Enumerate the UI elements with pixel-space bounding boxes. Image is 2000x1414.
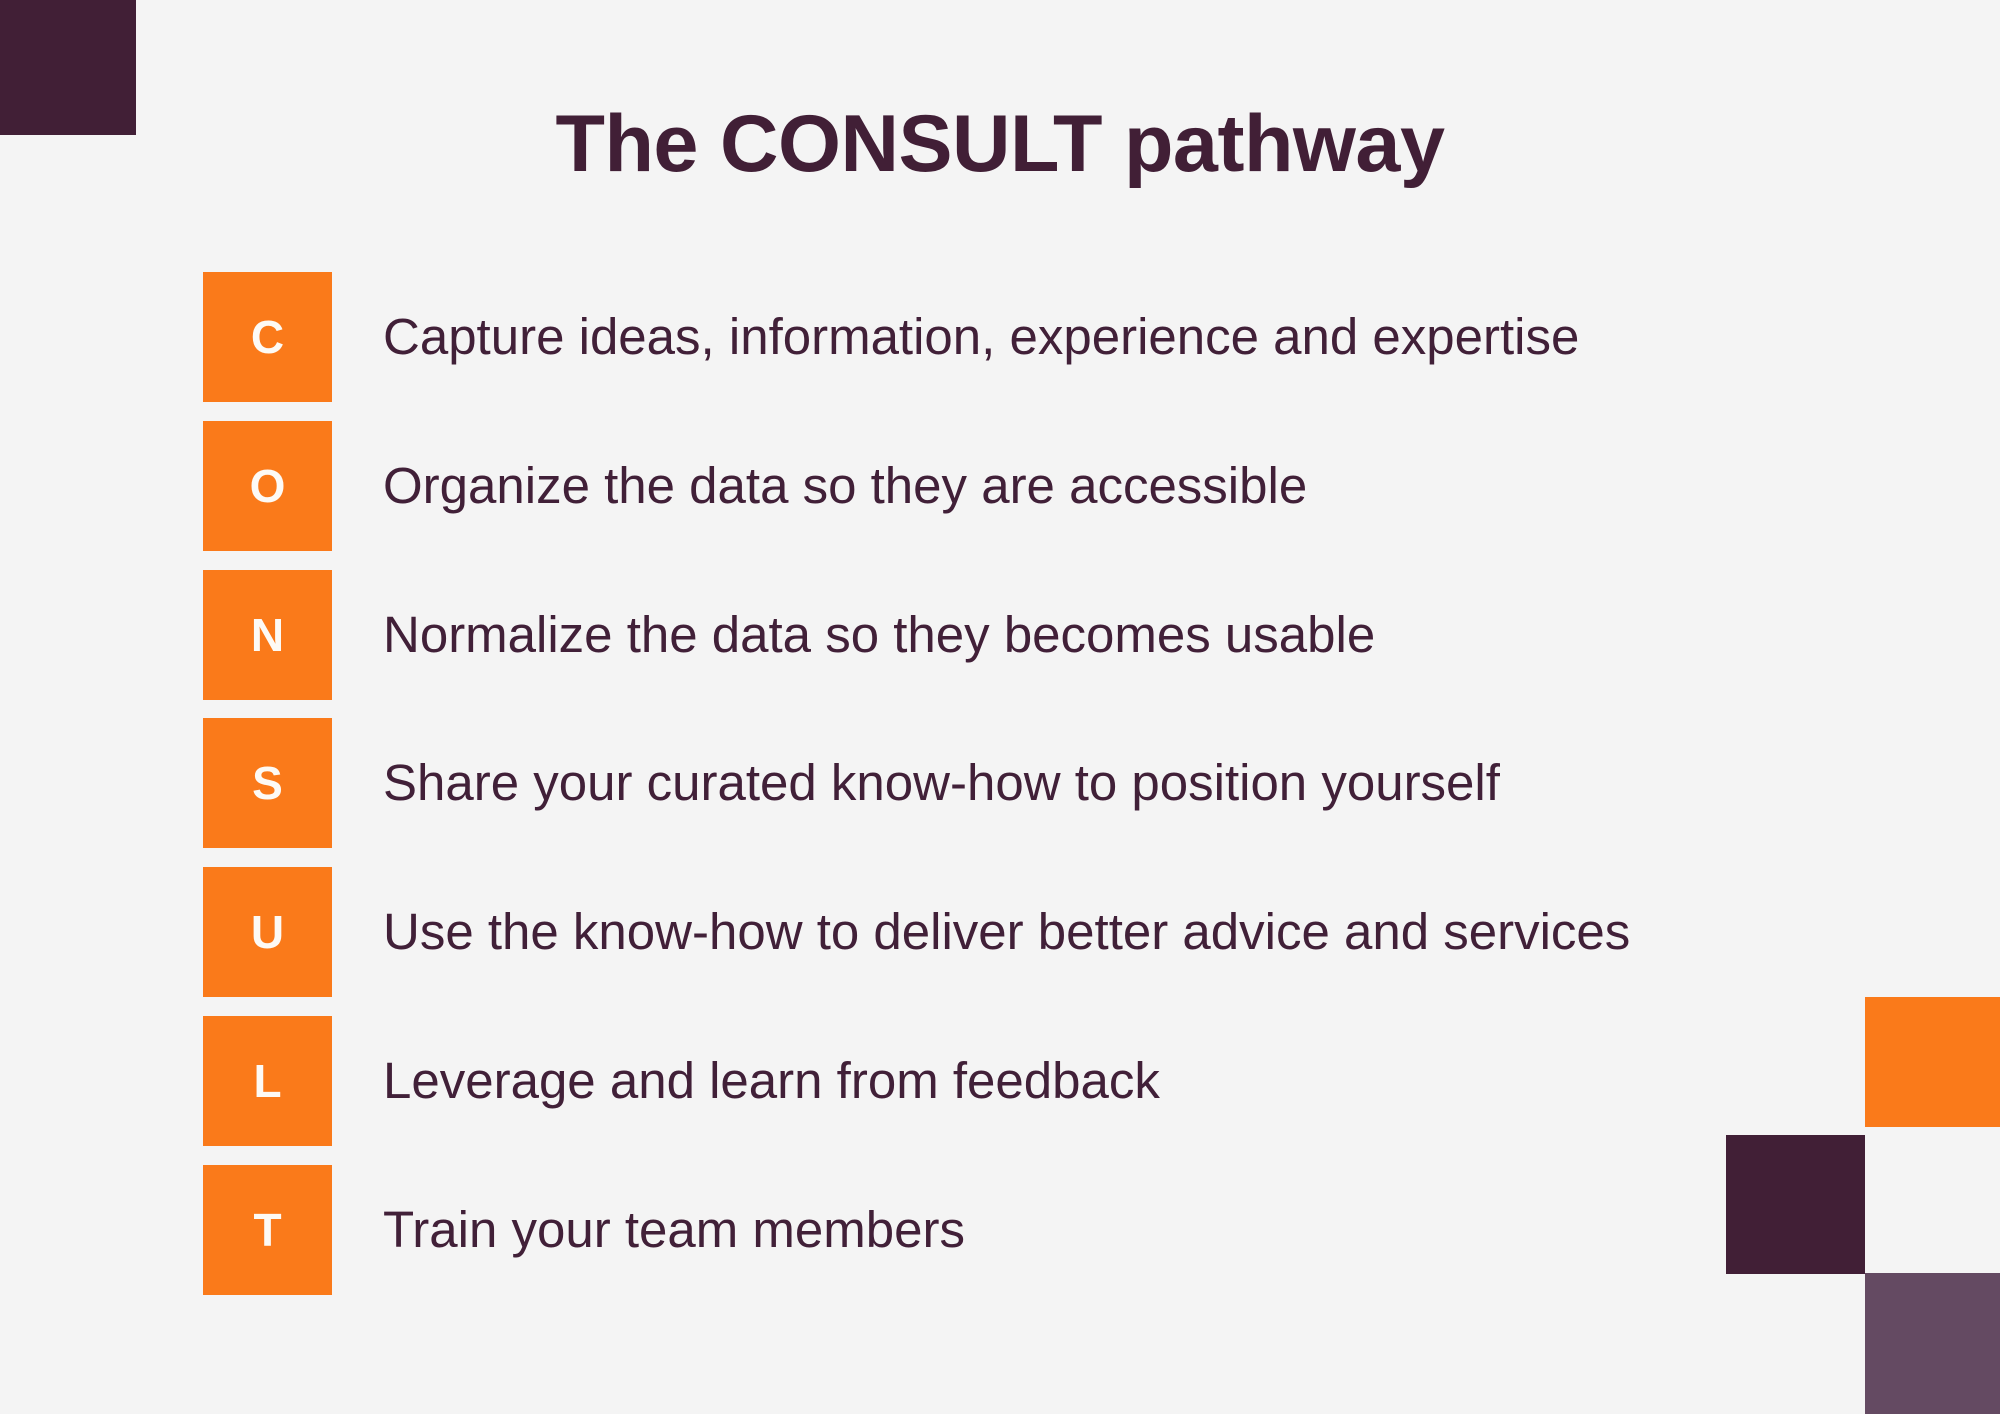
pathway-step-description: Use the know-how to deliver better advic… (383, 867, 1630, 997)
decorative-square-bottom-right-mauve (1865, 1273, 2000, 1414)
pathway-step-row: TTrain your team members (203, 1165, 1903, 1314)
pathway-letter: L (253, 1058, 281, 1104)
pathway-letter: S (252, 760, 283, 806)
pathway-step-row: CCapture ideas, information, experience … (203, 272, 1903, 421)
page-title: The CONSULT pathway (0, 104, 2000, 185)
pathway-step-description: Organize the data so they are accessible (383, 421, 1307, 551)
pathway-letter-tile: O (203, 421, 332, 551)
pathway-letter: C (251, 314, 284, 360)
pathway-letter: T (253, 1207, 281, 1253)
pathway-step-description: Share your curated know-how to position … (383, 718, 1500, 848)
pathway-step-description: Capture ideas, information, experience a… (383, 272, 1579, 402)
pathway-step-row: OOrganize the data so they are accessibl… (203, 421, 1903, 570)
pathway-letter: U (251, 909, 284, 955)
pathway-letter: N (251, 612, 284, 658)
decorative-square-bottom-right-orange (1865, 997, 2000, 1127)
decorative-square-bottom-right-dark (1726, 1135, 1865, 1274)
pathway-step-description: Train your team members (383, 1165, 965, 1295)
pathway-letter-tile: N (203, 570, 332, 700)
pathway-step-row: UUse the know-how to deliver better advi… (203, 867, 1903, 1016)
pathway-letter-tile: C (203, 272, 332, 402)
pathway-step-description: Normalize the data so they becomes usabl… (383, 570, 1375, 700)
pathway-step-row: SShare your curated know-how to position… (203, 718, 1903, 867)
pathway-step-row: NNormalize the data so they becomes usab… (203, 570, 1903, 719)
pathway-step-description: Leverage and learn from feedback (383, 1016, 1160, 1146)
pathway-letter-tile: S (203, 718, 332, 848)
pathway-letter-tile: T (203, 1165, 332, 1295)
pathway-letter: O (250, 463, 286, 509)
consult-pathway-list: CCapture ideas, information, experience … (203, 272, 1903, 1314)
pathway-step-row: LLeverage and learn from feedback (203, 1016, 1903, 1165)
pathway-letter-tile: U (203, 867, 332, 997)
pathway-letter-tile: L (203, 1016, 332, 1146)
